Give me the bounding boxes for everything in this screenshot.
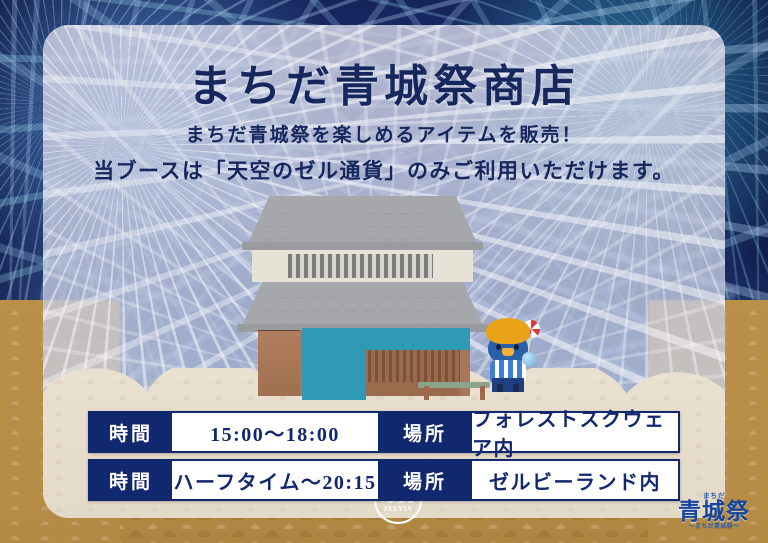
mascot-eye-left (496, 344, 501, 350)
time-value: ハーフタイム〜20:15 (172, 461, 378, 499)
page-title: まちだ青城祭商店 (0, 50, 768, 114)
table-row: 時間 15:00〜18:00 場所 フォレストスクウェア内 (88, 411, 680, 453)
mascot-leg-right (513, 384, 519, 392)
roof-slats (288, 254, 433, 278)
table-row: 時間 ハーフタイム〜20:15 場所 ゼルビーランド内 (88, 459, 680, 501)
subtitle-line-2: 当ブースは「天空のゼル通貨」のみご利用いただけます。 (0, 155, 768, 185)
mascot-held-ball (522, 352, 536, 366)
shop-wall-left-panel (258, 330, 300, 396)
time-label: 時間 (90, 461, 172, 499)
place-value: ゼルビーランド内 (472, 461, 678, 499)
place-label: 場所 (378, 413, 472, 451)
subtitle-line-1: まちだ青城祭を楽しめるアイテムを販売！ (0, 120, 768, 147)
shop-lattice-window (364, 346, 460, 384)
event-poster: まちだ青城祭商店 まちだ青城祭を楽しめるアイテムを販売！ 当ブースは「天空のゼル… (0, 0, 768, 543)
event-logo: まちだ 青城祭 〜まちだ青城祭〜 (674, 493, 754, 537)
info-table: 時間 15:00〜18:00 場所 フォレストスクウェア内 時間 ハーフタイム〜… (88, 411, 680, 507)
noren-banner-top (360, 328, 470, 350)
place-label: 場所 (378, 461, 472, 499)
lower-roof-tiles (258, 286, 467, 324)
place-value: フォレストスクウェア内 (472, 413, 678, 451)
mascot-cap (486, 318, 530, 344)
event-logo-sub-text: 〜まちだ青城祭〜 (674, 524, 754, 530)
bench-leg-left (424, 386, 429, 400)
time-label: 時間 (90, 413, 172, 451)
shop-illustration: ZELVIA (240, 196, 485, 396)
zelvy-mascot-icon (478, 314, 540, 392)
mascot-eye-right (514, 344, 519, 350)
upper-roof-edge (242, 242, 483, 250)
mascot-beak (502, 348, 514, 356)
upper-roof-tiles (260, 202, 465, 242)
mascot-leg-left (497, 384, 503, 392)
event-logo-main-text: 青城祭 (674, 500, 754, 524)
time-value: 15:00〜18:00 (172, 413, 378, 451)
noren-banner: ZELVIA (302, 328, 366, 400)
